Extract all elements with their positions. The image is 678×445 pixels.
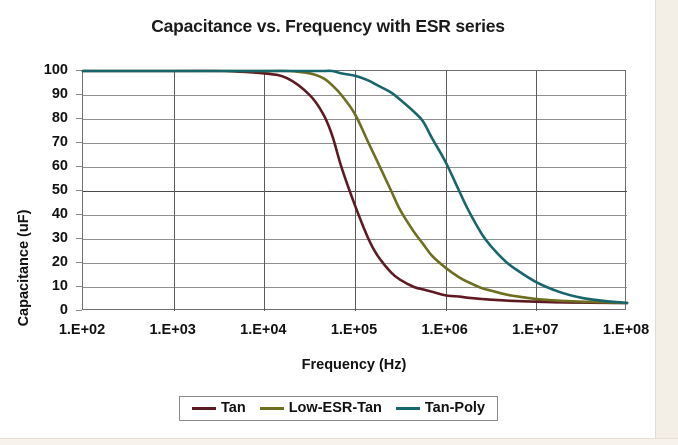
legend-line-swatch	[260, 407, 284, 410]
series-line	[83, 71, 627, 303]
chart-page: Capacitance vs. Frequency with ESR serie…	[0, 0, 678, 445]
legend-item[interactable]: Tan	[192, 400, 246, 416]
legend-label: Low-ESR-Tan	[289, 400, 382, 416]
page-edge-strip	[655, 0, 678, 445]
x-tick-label: 1.E+02	[42, 322, 122, 338]
y-tick-label: 70	[52, 135, 68, 150]
y-axis-title: Capacitance (uF)	[16, 168, 32, 368]
legend-line-swatch	[192, 407, 216, 410]
y-tick-label: 30	[52, 231, 68, 246]
x-tick-label: 1.E+06	[405, 322, 485, 338]
series-line	[83, 71, 627, 303]
x-tick-label: 1.E+04	[223, 322, 303, 338]
series-line	[83, 71, 627, 303]
legend-item[interactable]: Low-ESR-Tan	[260, 400, 382, 416]
legend-item[interactable]: Tan-Poly	[396, 400, 485, 416]
x-tick-label: 1.E+08	[586, 322, 666, 338]
y-tick-label: 60	[52, 159, 68, 174]
legend-line-swatch	[396, 407, 420, 410]
series-curves	[83, 71, 627, 311]
chart-legend: TanLow-ESR-TanTan-Poly	[179, 396, 498, 421]
y-tick-label: 50	[52, 183, 68, 198]
y-axis: Capacitance (uF) 0102030405060708090100	[0, 70, 76, 310]
y-tick-label: 90	[52, 87, 68, 102]
x-axis-title: Frequency (Hz)	[82, 357, 626, 373]
legend-label: Tan-Poly	[425, 400, 485, 416]
page-bottom-strip	[0, 438, 678, 445]
y-tick-label: 20	[52, 255, 68, 270]
x-tick-label: 1.E+03	[133, 322, 213, 338]
x-tick-label: 1.E+05	[314, 322, 394, 338]
y-tick-label: 0	[60, 303, 68, 318]
chart-title: Capacitance vs. Frequency with ESR serie…	[0, 16, 656, 37]
y-tick-label: 100	[44, 63, 68, 78]
legend-label: Tan	[221, 400, 246, 416]
x-tick-label: 1.E+07	[495, 322, 575, 338]
y-tick-mark	[76, 310, 82, 311]
y-tick-label: 80	[52, 111, 68, 126]
y-tick-label: 40	[52, 207, 68, 222]
y-tick-label: 10	[52, 279, 68, 294]
plot-area	[82, 70, 626, 310]
